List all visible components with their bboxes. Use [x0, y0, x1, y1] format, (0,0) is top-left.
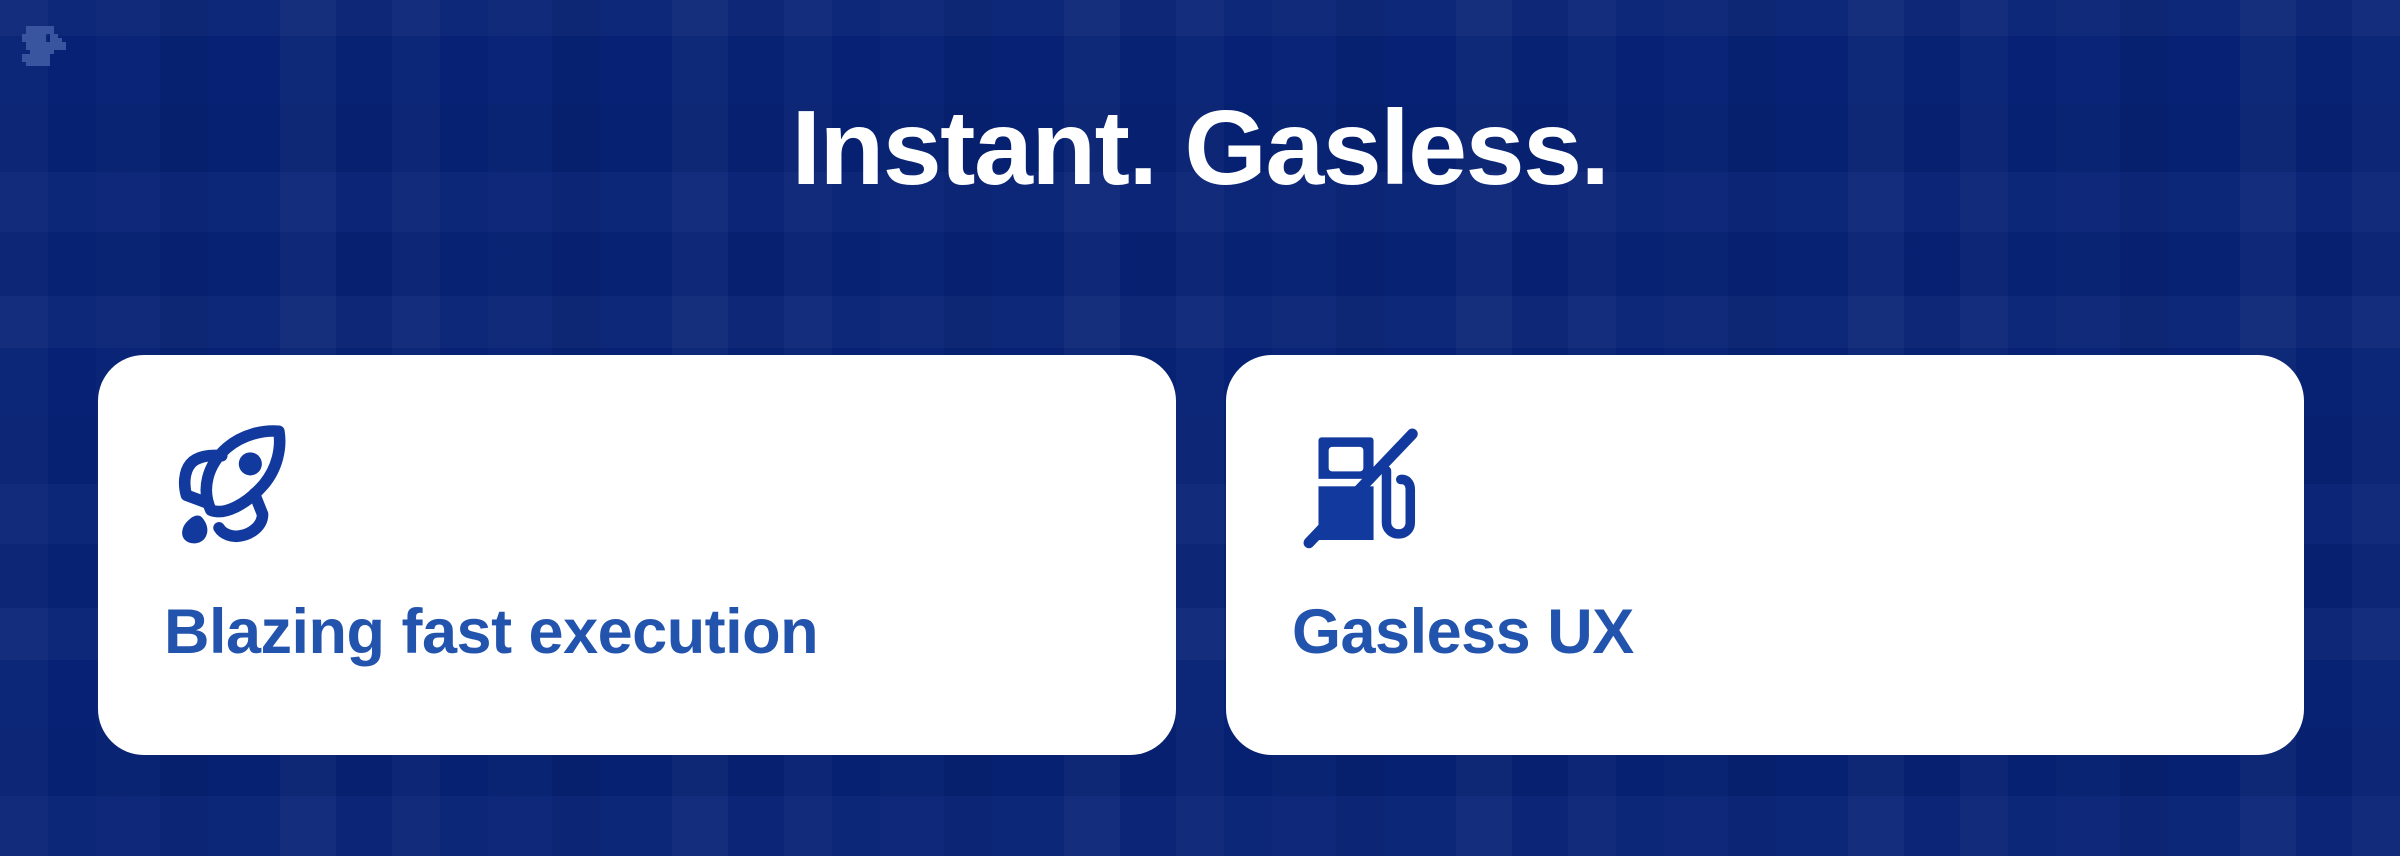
- feature-card-gasless-ux[interactable]: Gasless UX: [1226, 355, 2304, 755]
- feature-card-title: Gasless UX: [1292, 595, 1634, 671]
- gas-pump-slashed-icon: [1294, 419, 1430, 555]
- feature-card-blazing-fast-execution[interactable]: Blazing fast execution: [98, 355, 1176, 755]
- feature-card-row: Blazing fast execution Gasless UX: [98, 355, 2304, 755]
- page-title: Instant. Gasless.: [0, 86, 2400, 211]
- feature-card-title: Blazing fast execution: [164, 595, 818, 671]
- hero-section: Instant. Gasless.: [0, 0, 2400, 856]
- chevron-right-logo[interactable]: [18, 18, 98, 72]
- rocket-icon: [166, 419, 302, 555]
